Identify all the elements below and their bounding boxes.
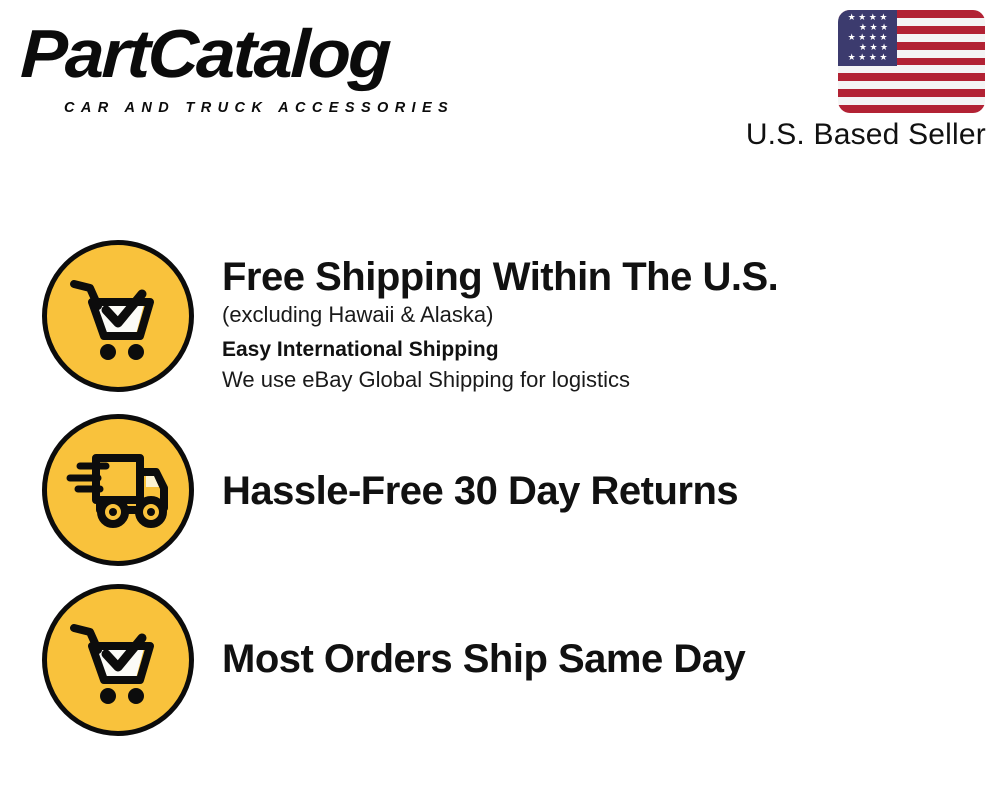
shopping-cart-check-icon — [42, 240, 194, 392]
list-item: Free Shipping Within The U.S. (excluding… — [0, 240, 1000, 410]
feature-detail: We use eBay Global Shipping for logistic… — [222, 365, 962, 395]
page-title: Hassle-Free 30 Day Returns — [222, 468, 962, 514]
shopping-cart-check-icon — [42, 584, 194, 736]
feature-list: Free Shipping Within The U.S. (excluding… — [0, 0, 1000, 800]
feature-text-block: Most Orders Ship Same Day — [222, 636, 962, 682]
list-item: Most Orders Ship Same Day — [0, 584, 1000, 744]
page-title: Free Shipping Within The U.S. — [222, 254, 962, 300]
list-item: Hassle-Free 30 Day Returns — [0, 414, 1000, 576]
feature-subhead: Easy International Shipping — [222, 335, 962, 365]
feature-subline: (excluding Hawaii & Alaska) — [222, 300, 962, 330]
page-title: Most Orders Ship Same Day — [222, 636, 962, 682]
delivery-truck-icon — [42, 414, 194, 566]
feature-text-block: Free Shipping Within The U.S. (excluding… — [222, 254, 962, 395]
feature-text-block: Hassle-Free 30 Day Returns — [222, 468, 962, 514]
